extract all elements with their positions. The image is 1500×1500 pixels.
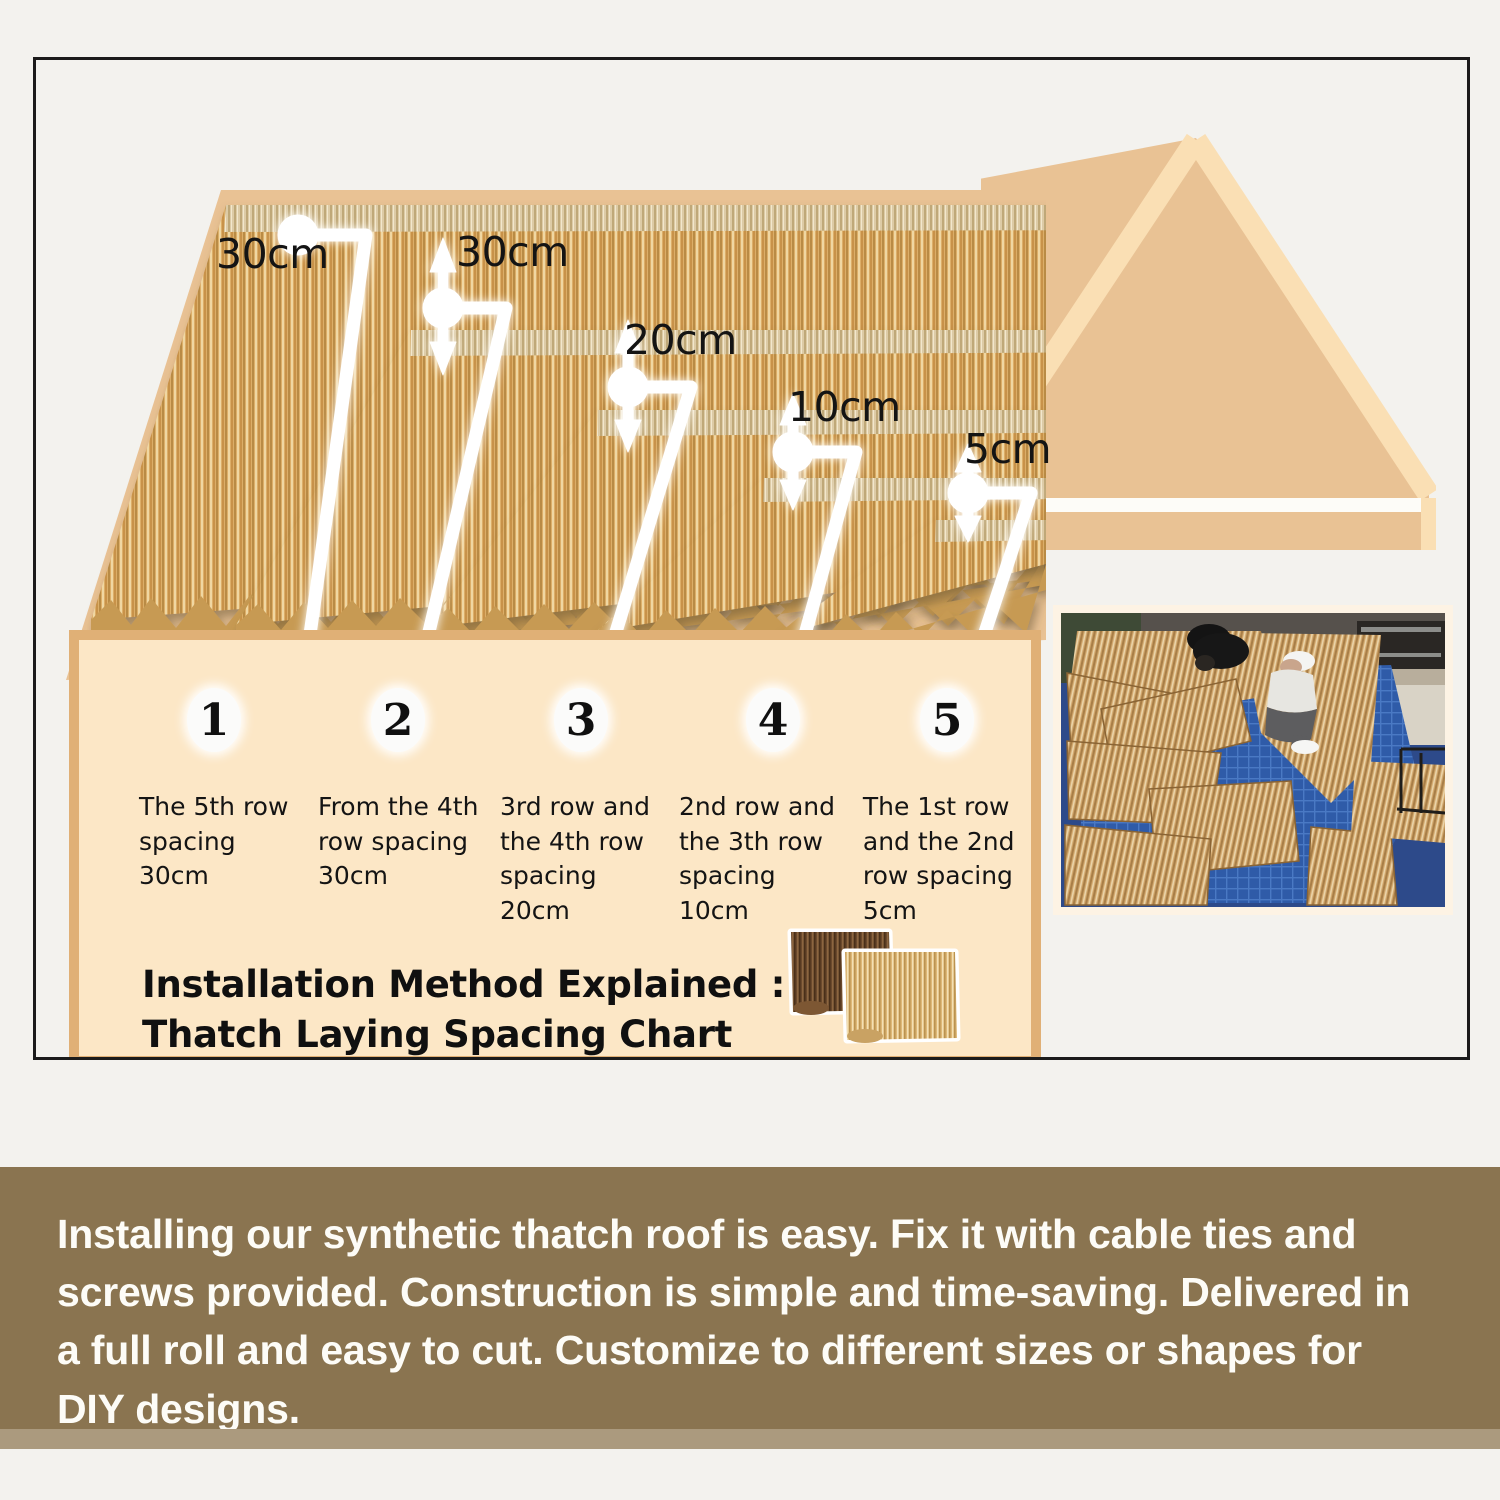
caption-line: From the 4th xyxy=(318,790,500,825)
step-marker-2: 2 xyxy=(371,688,425,752)
caption-line: spacing xyxy=(139,825,318,860)
step-marker-3: 3 xyxy=(554,688,608,752)
caption-line: row spacing xyxy=(863,859,1039,894)
caption-columns: The 5th row spacing 30cm From the 4th ro… xyxy=(139,790,1039,928)
house-outline-graphic xyxy=(981,130,1436,550)
dimension-label-4: 10cm xyxy=(788,383,901,431)
caption-column-2: From the 4th row spacing 30cm xyxy=(318,790,500,928)
caption-line: and the 2nd xyxy=(863,825,1039,860)
thatch-sample-images xyxy=(779,920,999,1055)
caption-column-4: 2nd row and the 3th row spacing 10cm xyxy=(679,790,863,928)
dimension-label-5: 5cm xyxy=(964,425,1051,473)
diagram-card: 30cm 30cm 20cm 10cm 5cm The 5th row spac… xyxy=(33,57,1470,1060)
caption-line: the 3th row xyxy=(679,825,863,860)
dimension-label-1: 30cm xyxy=(216,230,329,278)
panel-title-line-1: Installation Method Explained : xyxy=(142,960,785,1010)
caption-line: 30cm xyxy=(318,859,500,894)
step-marker-5: 5 xyxy=(920,688,974,752)
caption-line: The 1st row xyxy=(863,790,1039,825)
installation-photo xyxy=(1053,605,1453,915)
caption-line: the 4th row xyxy=(500,825,679,860)
dimension-label-2: 30cm xyxy=(456,228,569,276)
caption-line: The 5th row xyxy=(139,790,318,825)
caption-line: spacing xyxy=(500,859,679,894)
bottom-banner: Installing our synthetic thatch roof is … xyxy=(0,1167,1500,1429)
panel-title: Installation Method Explained : Thatch L… xyxy=(142,960,785,1060)
thatch-roof-diagram: 30cm 30cm 20cm 10cm 5cm xyxy=(36,80,1046,700)
dimension-label-3: 20cm xyxy=(624,316,737,364)
caption-column-1: The 5th row spacing 30cm xyxy=(139,790,318,928)
caption-line: 3rd row and xyxy=(500,790,679,825)
banner-text: Installing our synthetic thatch roof is … xyxy=(57,1205,1427,1438)
step-marker-1: 1 xyxy=(187,688,241,752)
panel-title-line-2: Thatch Laying Spacing Chart xyxy=(142,1010,785,1060)
caption-column-3: 3rd row and the 4th row spacing 20cm xyxy=(500,790,679,928)
caption-line: 30cm xyxy=(139,859,318,894)
caption-line: row spacing xyxy=(318,825,500,860)
caption-line: 20cm xyxy=(500,894,679,929)
caption-column-5: The 1st row and the 2nd row spacing 5cm xyxy=(863,790,1039,928)
banner-bottom-strip xyxy=(0,1429,1500,1449)
caption-line: 2nd row and xyxy=(679,790,863,825)
step-marker-4: 4 xyxy=(746,688,800,752)
caption-line: spacing xyxy=(679,859,863,894)
